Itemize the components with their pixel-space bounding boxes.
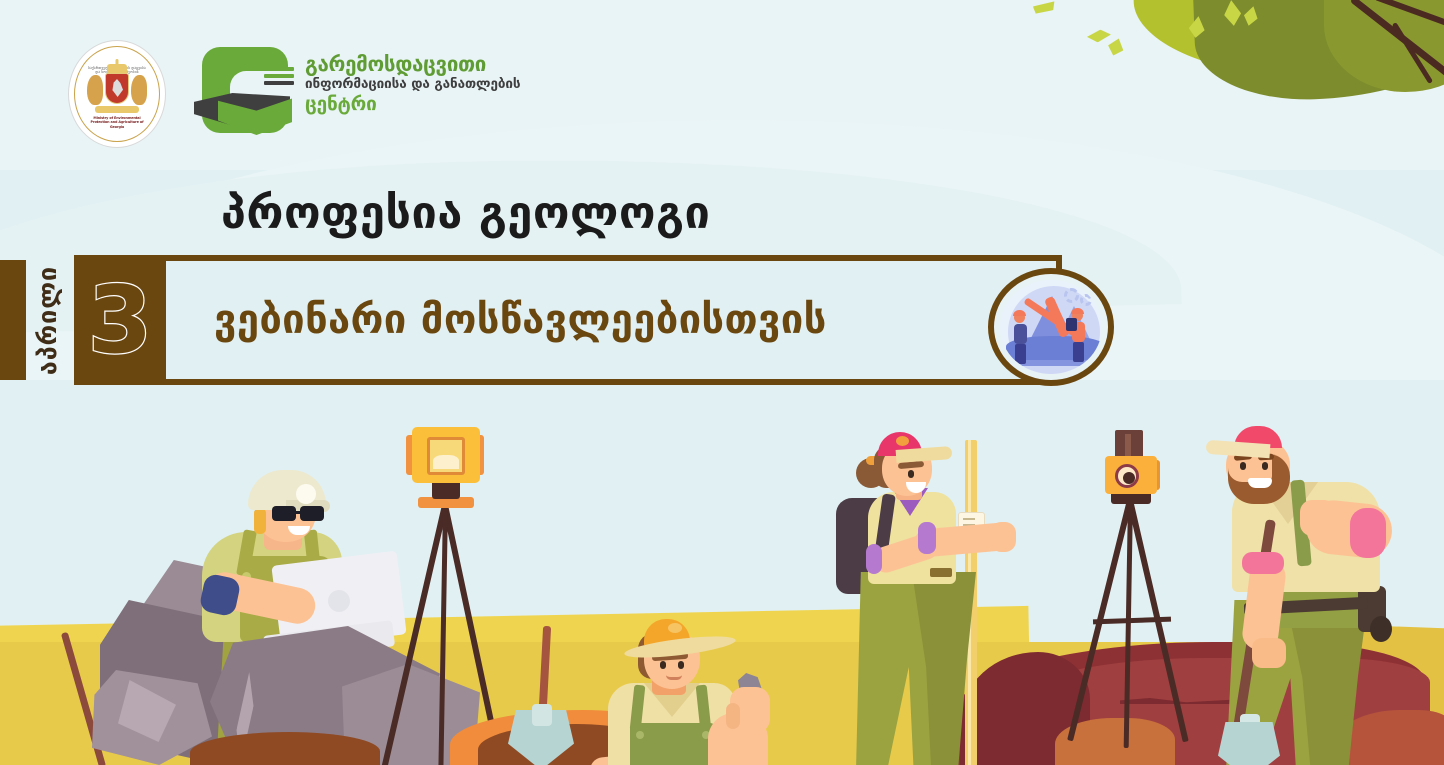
gear-icon — [1080, 294, 1092, 306]
theodolite-tripod-right — [1075, 428, 1205, 728]
leaf-icon — [1033, 0, 1058, 17]
mark-bars-icon — [264, 67, 294, 88]
mouth — [1248, 478, 1272, 488]
leaf-icon — [1106, 36, 1127, 58]
ministry-emblem-icon: საქართველოს გარემოს დაცვისა და სოფლის მე… — [68, 40, 166, 148]
hand — [1300, 500, 1336, 536]
eye — [1240, 462, 1246, 470]
shovel-collar — [532, 704, 552, 726]
mark-bar — [264, 81, 294, 85]
date-banner: აპრილი 3 ვებინარი მოსწავლეებისთვის — [0, 255, 1130, 385]
thumb — [726, 703, 740, 729]
eye — [660, 661, 666, 669]
badge-figure-left — [1014, 312, 1027, 364]
banner-edge-block — [0, 260, 26, 380]
figure-head — [1014, 312, 1025, 323]
belt — [930, 568, 952, 577]
shovel-blade-icon — [1218, 722, 1280, 765]
hat-highlight — [668, 623, 682, 633]
geologist-holding-rock-sample — [590, 605, 810, 765]
banner-text: ვებინარი მოსწავლეებისთვის — [214, 297, 827, 343]
tripod-leg — [1124, 500, 1133, 748]
header-logos: საქართველოს გარემოს დაცვისა და სოფლის მე… — [0, 0, 700, 160]
day-number: 3 — [88, 274, 153, 367]
figure-legs — [1015, 344, 1026, 364]
eye — [1262, 462, 1268, 470]
cap-brim — [896, 446, 953, 463]
geology-badge-icon — [988, 268, 1114, 386]
helmet-lamp-icon — [296, 484, 316, 504]
lens — [300, 506, 324, 521]
sleeve-cuff — [918, 522, 936, 554]
emblem-caption-en: Ministry of Environmental Protection and… — [86, 116, 148, 129]
mark-bar — [264, 67, 294, 71]
theodolite-tripod-left — [380, 425, 510, 765]
lion-left-icon — [87, 75, 103, 105]
banner-plate: ვებინარი მოსწავლეებისთვის — [166, 255, 1062, 385]
lion-right-icon — [131, 75, 147, 105]
sleeve-cuff — [866, 544, 882, 574]
eiec-mark-icon — [200, 45, 292, 140]
shield-icon — [105, 73, 129, 104]
geologist-digging-with-shovel — [1190, 420, 1440, 765]
gear-icon — [1064, 288, 1079, 303]
hand — [1252, 638, 1286, 668]
figure-cap — [1013, 310, 1026, 316]
month-label: აპრილი — [26, 260, 70, 380]
eye — [678, 661, 684, 669]
eye — [908, 470, 914, 478]
overall-button — [636, 731, 644, 739]
emblem-ribbon — [95, 106, 139, 113]
tool-pouch-icon — [1370, 616, 1392, 642]
sunglasses-icon — [272, 506, 330, 522]
leaf-icon — [1086, 28, 1112, 44]
page-title: პროფესია გეოლოგი — [221, 190, 710, 235]
emblem-inner: საქართველოს გარემოს დაცვისა და სოფლის მე… — [86, 57, 148, 131]
clipboard-icon — [1066, 318, 1077, 331]
geologist-woman-with-survey-rod — [830, 422, 1020, 765]
eiec-logo: გარემოსდაცვითი ინფორმაციისა და განათლები… — [200, 45, 540, 140]
mouth — [666, 675, 682, 680]
figure-body — [1014, 324, 1027, 344]
day-number-box: 3 — [74, 255, 166, 385]
instrument-lens-icon — [427, 437, 465, 475]
eiec-line-1: გარემოსდაცვითი — [305, 53, 540, 76]
badge-inner — [1000, 280, 1102, 374]
geology-field-illustration — [0, 380, 1444, 765]
cap-highlight — [896, 436, 909, 446]
eiec-line-2: ინფორმაციისა და განათლების — [305, 76, 540, 93]
mark-bar — [264, 74, 294, 78]
overalls — [630, 723, 716, 765]
sleeve-cuff — [1350, 508, 1386, 558]
eiec-logo-text: გარემოსდაცვითი ინფორმაციისა და განათლები… — [305, 53, 540, 115]
month-text: აპრილი — [34, 265, 63, 374]
tripod-leg — [438, 505, 448, 765]
tripod-leg — [375, 504, 448, 765]
figure-cap — [1071, 308, 1084, 314]
sleeve-cuff — [1242, 552, 1284, 574]
hand — [990, 522, 1016, 552]
ear-protection-icon — [254, 508, 266, 534]
instrument-lens-icon — [1115, 464, 1139, 488]
figure-legs — [1073, 342, 1084, 362]
slide-canvas: საქართველოს გარემოს დაცვისა და სოფლის მე… — [0, 0, 1444, 765]
foliage-decoration — [1024, 0, 1444, 130]
eiec-line-3: ცენტრი — [305, 93, 540, 116]
lens — [272, 506, 296, 521]
